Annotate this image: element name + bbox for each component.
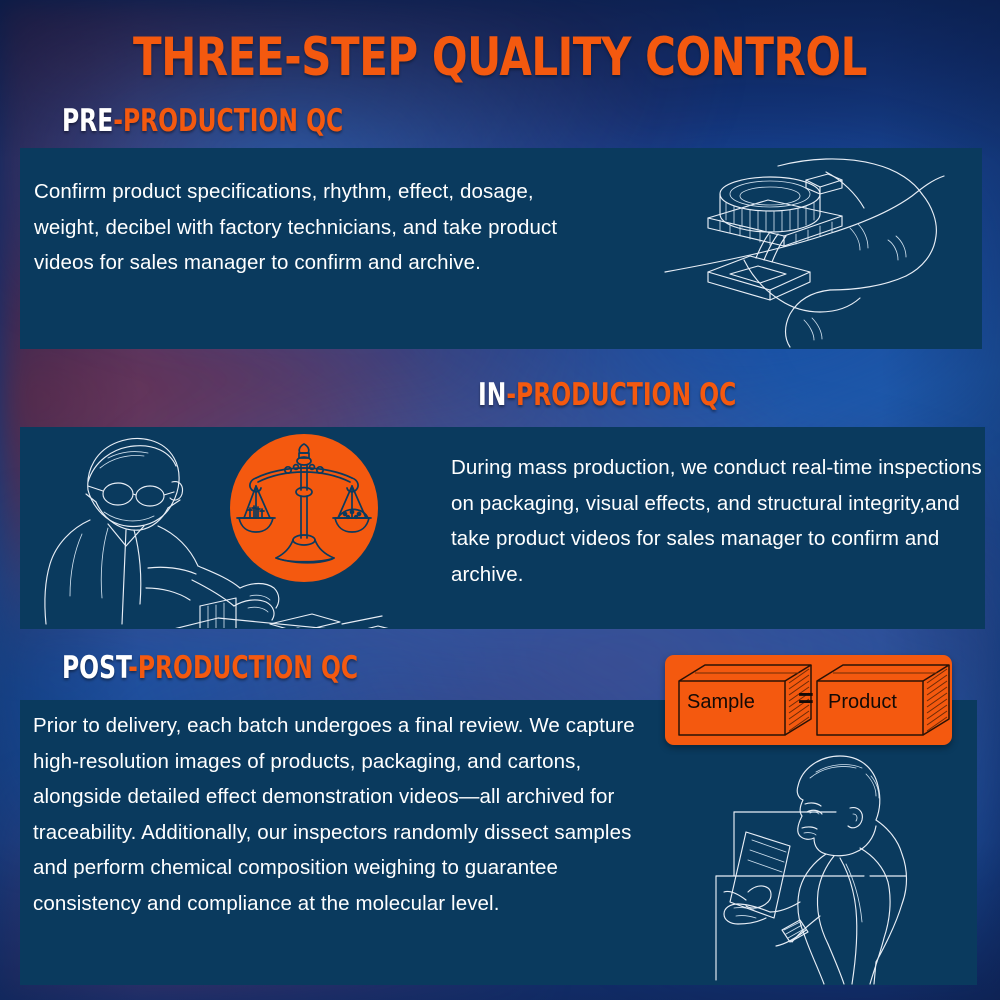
step-heading-in-production-white: IN	[478, 377, 506, 413]
step-heading-pre-production: PRE-PRODUCTION QC	[62, 104, 343, 138]
infographic-poster: THREE-STEP QUALITY CONTROL PRE-PRODUCTIO…	[0, 0, 1000, 1000]
body-text-pre-production: Confirm product specifications, rhythm, …	[34, 174, 574, 281]
balance-scale-icon	[230, 434, 378, 582]
body-text-in-production: During mass production, we conduct real-…	[451, 450, 986, 592]
step-heading-in-production-accent: -PRODUCTION QC	[506, 377, 736, 413]
body-text-post-production: Prior to delivery, each batch undergoes …	[33, 708, 663, 921]
balance-scale-badge	[230, 434, 378, 582]
equals-operator: =	[798, 688, 814, 708]
man-with-tablet-icon	[690, 752, 977, 985]
sample-label: Sample	[687, 692, 755, 712]
step-heading-in-production: IN-PRODUCTION QC	[478, 378, 736, 412]
step-heading-pre-production-white: PRE	[62, 103, 113, 139]
hand-holding-device-icon	[660, 150, 982, 348]
step-heading-post-production-accent: -PRODUCTION QC	[128, 650, 358, 686]
product-label: Product	[828, 692, 897, 712]
step-heading-post-production-white: POST	[62, 650, 128, 686]
poster-title: THREE-STEP QUALITY CONTROL	[60, 30, 940, 86]
sample-equals-product-box: Sample = Product	[665, 655, 952, 745]
step-heading-pre-production-accent: -PRODUCTION QC	[113, 103, 343, 139]
step-heading-post-production: POST-PRODUCTION QC	[62, 651, 358, 685]
